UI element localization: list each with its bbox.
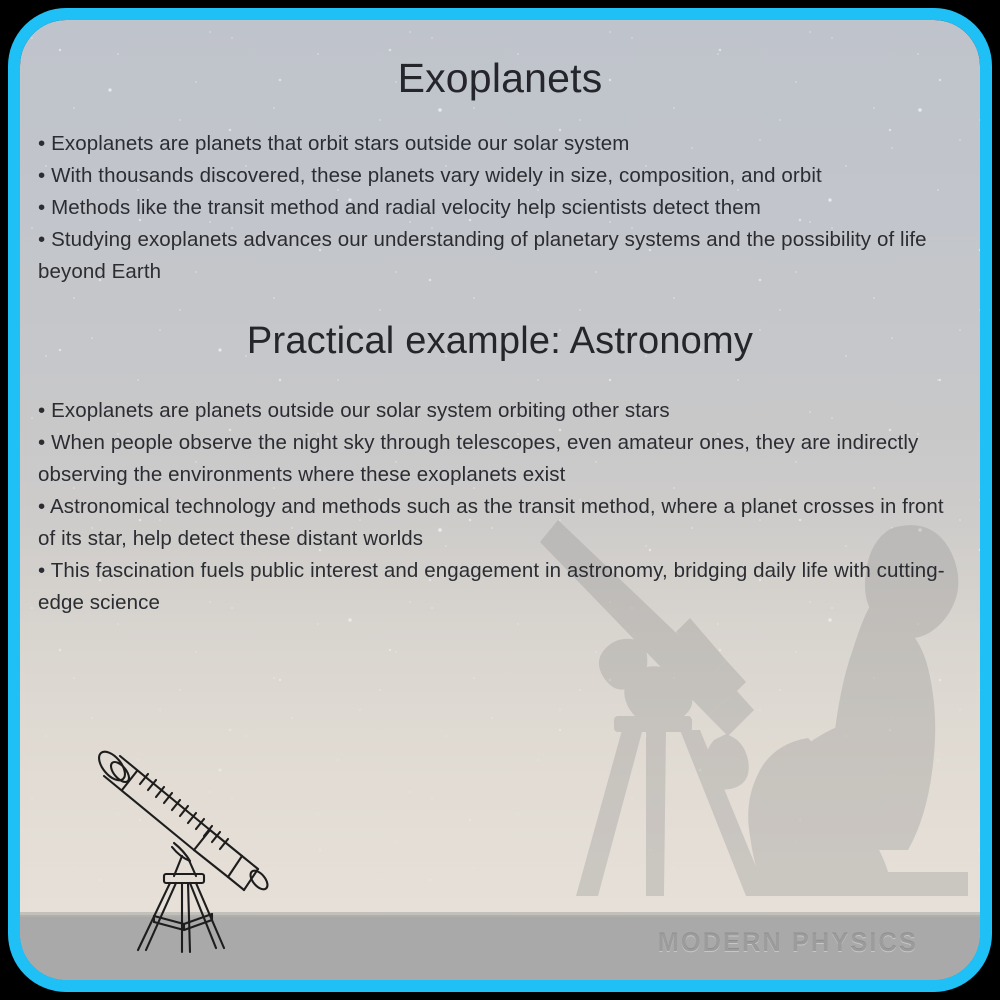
slide-border-frame (8, 8, 992, 992)
slide-root: Exoplanets • Exoplanets are planets that… (0, 0, 1000, 1000)
